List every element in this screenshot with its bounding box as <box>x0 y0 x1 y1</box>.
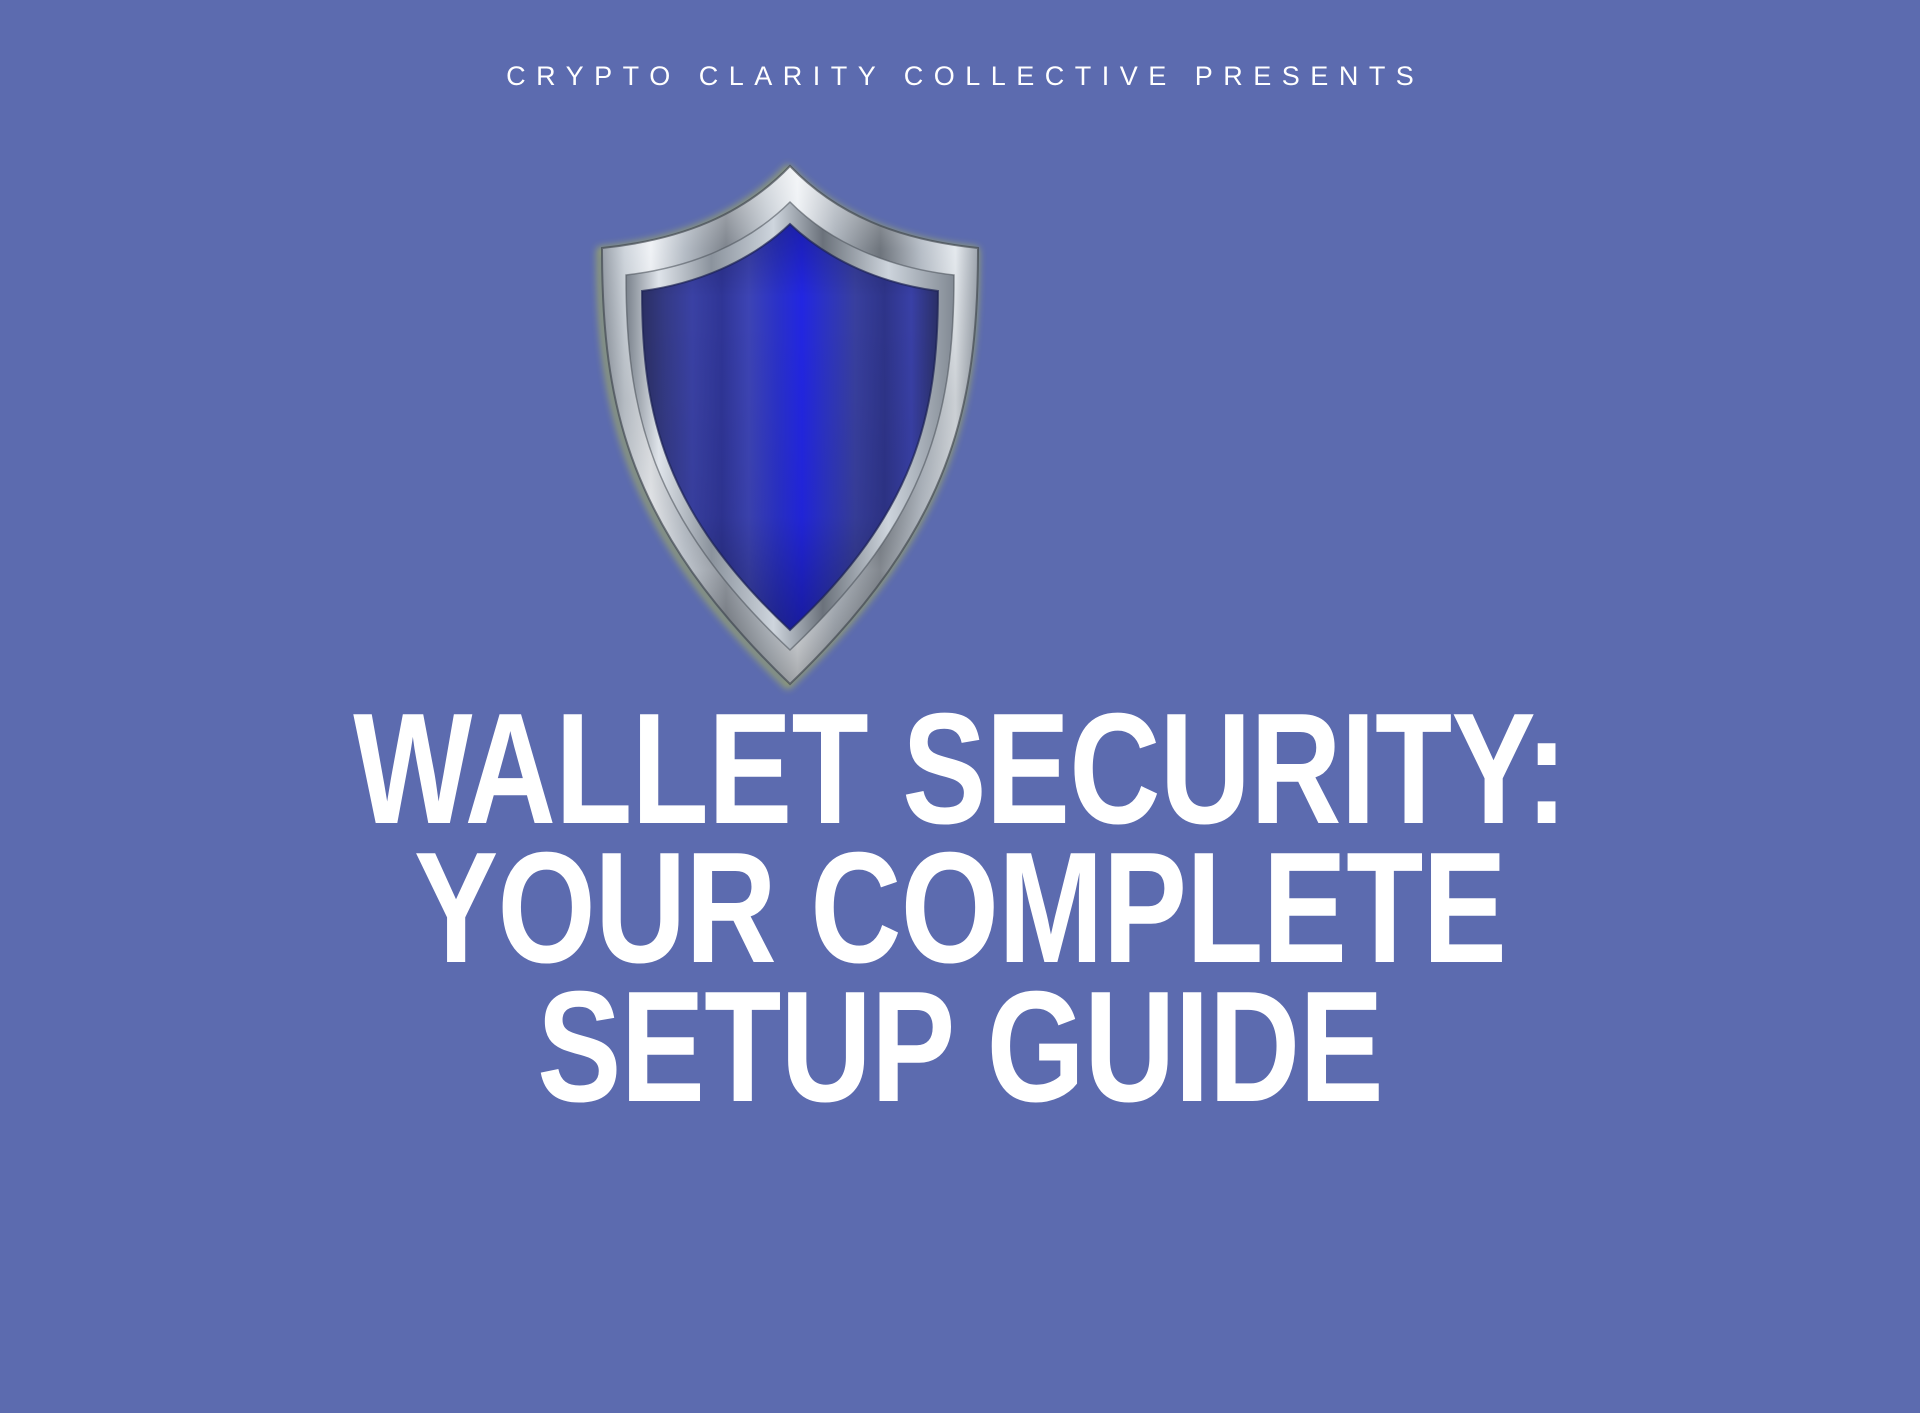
title-line-1: WALLET SECURITY: <box>192 700 1728 839</box>
presenter-eyebrow: CRYPTO CLARITY COLLECTIVE PRESENTS <box>0 62 1920 92</box>
shield-icon <box>530 158 1050 698</box>
title-line-3: SETUP GUIDE <box>192 978 1728 1117</box>
title-line-2: YOUR COMPLETE <box>192 839 1728 978</box>
page-title: WALLET SECURITY: YOUR COMPLETE SETUP GUI… <box>0 700 1920 1117</box>
poster-canvas: CRYPTO CLARITY COLLECTIVE PRESENTS <box>0 0 1920 1413</box>
shield-emblem <box>530 158 1050 698</box>
